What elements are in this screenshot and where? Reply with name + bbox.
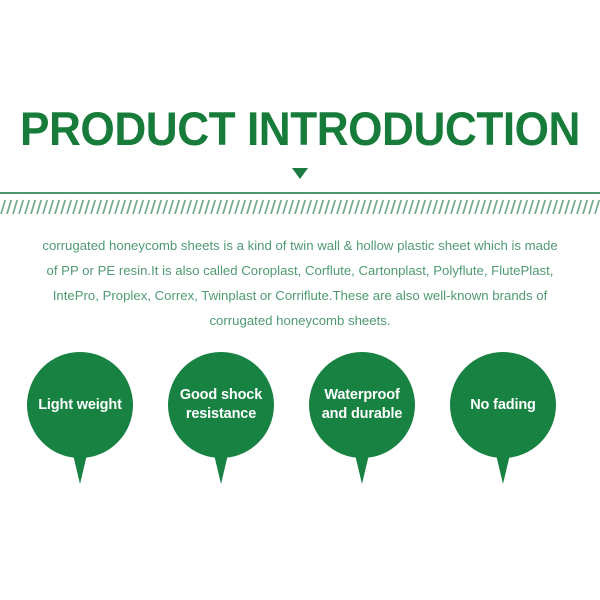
triangle-down-icon <box>292 168 308 179</box>
badge-circle: Waterproofand durable <box>309 352 415 458</box>
feature-badge-label: No fading <box>470 396 536 415</box>
intro-paragraph-line: corrugated honeycomb sheets. <box>18 308 582 333</box>
divider-rule <box>0 192 600 194</box>
feature-badge-good-shock-resistance: Good shockresistance <box>168 352 274 458</box>
page-title: PRODUCT INTRODUCTION <box>18 104 582 154</box>
badge-circle: No fading <box>450 352 556 458</box>
hatched-divider-band <box>0 199 600 215</box>
feature-badge-label: Good shockresistance <box>180 386 262 424</box>
product-introduction-banner: PRODUCT INTRODUCTION corrugated honeycom… <box>0 0 600 600</box>
intro-paragraph: corrugated honeycomb sheets is a kind of… <box>18 233 582 333</box>
hatch-pattern-icon <box>0 199 600 215</box>
feature-badge-no-fading: No fading <box>450 352 556 458</box>
intro-paragraph-line: corrugated honeycomb sheets is a kind of… <box>18 233 582 258</box>
intro-paragraph-line: of PP or PE resin.It is also called Coro… <box>18 258 582 283</box>
badge-circle: Light weight <box>27 352 133 458</box>
page-title-block: PRODUCT INTRODUCTION <box>0 104 600 154</box>
intro-paragraph-line: IntePro, Proplex, Correx, Twinplast or C… <box>18 283 582 308</box>
feature-badge-label: Waterproofand durable <box>322 386 403 424</box>
feature-badge-waterproof-and-durable: Waterproofand durable <box>309 352 415 458</box>
feature-badge-row: Light weight Good shockresistance Waterp… <box>0 352 600 492</box>
badge-circle: Good shockresistance <box>168 352 274 458</box>
feature-badge-label: Light weight <box>38 396 122 415</box>
feature-badge-light-weight: Light weight <box>27 352 133 458</box>
